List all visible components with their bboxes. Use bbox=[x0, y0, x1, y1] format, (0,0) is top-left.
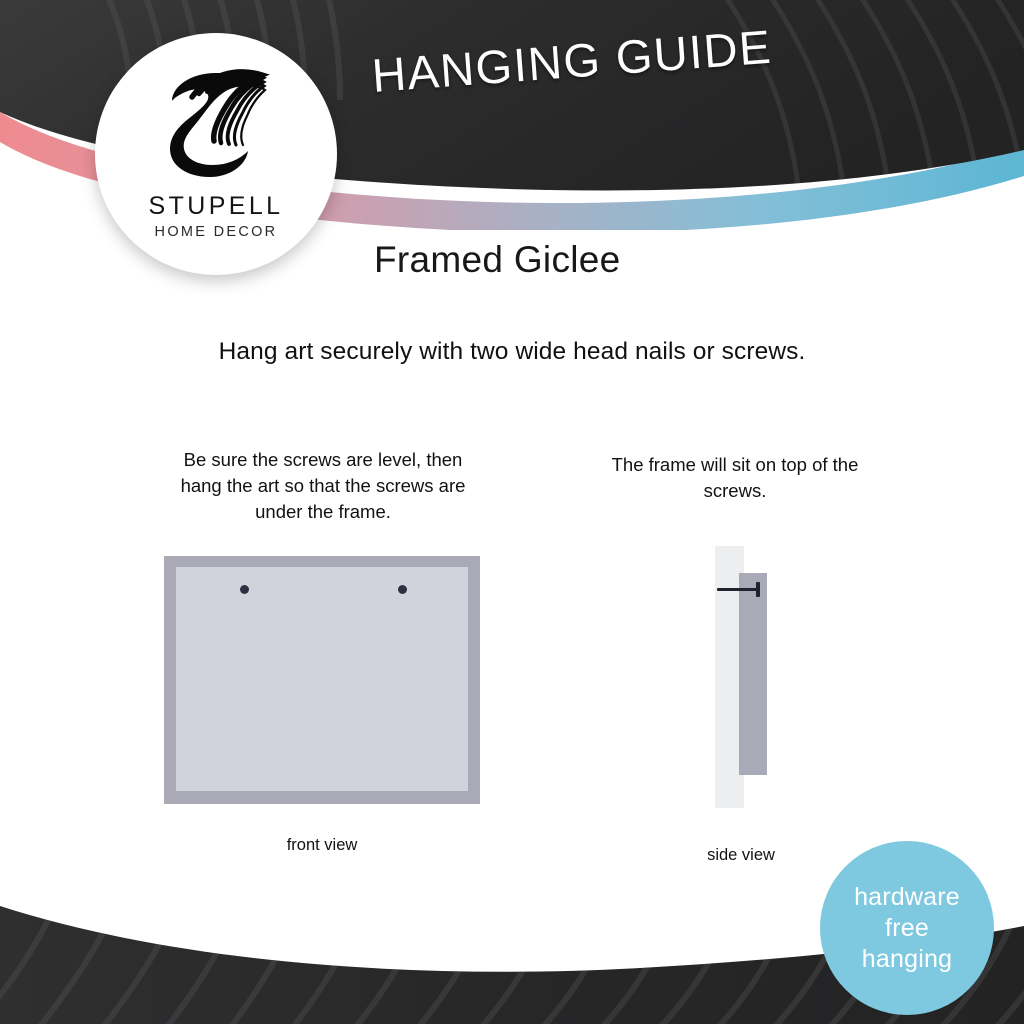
hardware-free-hanging-badge: hardware free hanging bbox=[820, 841, 994, 1015]
brand-logo-badge: STUPELL HOME DECOR bbox=[95, 33, 337, 275]
front-view-caption: front view bbox=[164, 836, 480, 855]
front-view-note: Be sure the screws are level, then hang … bbox=[168, 447, 478, 525]
side-view-note: The frame will sit on top of the screws. bbox=[595, 452, 875, 504]
badge-line-3: hanging bbox=[862, 944, 952, 975]
badge-line-1: hardware bbox=[854, 882, 960, 913]
side-view-caption: side view bbox=[655, 846, 827, 865]
badge-line-2: free bbox=[885, 913, 929, 944]
screw-dot-right bbox=[398, 585, 407, 594]
product-name: Framed Giclee bbox=[374, 239, 621, 281]
instruction-headline: Hang art securely with two wide head nai… bbox=[0, 338, 1024, 366]
brand-tagline: HOME DECOR bbox=[155, 224, 278, 240]
brand-name: STUPELL bbox=[149, 192, 284, 221]
nail-head-icon bbox=[756, 582, 760, 597]
nail-shaft-icon bbox=[717, 588, 758, 591]
front-view-frame-diagram bbox=[164, 556, 480, 804]
hanging-guide-page: HANGING GUIDE STUPELL HOME DECOR Framed … bbox=[0, 0, 1024, 1024]
side-view-diagram bbox=[705, 546, 777, 808]
side-view-frame bbox=[739, 573, 767, 775]
stupell-swirl-s-logo-icon bbox=[162, 61, 270, 186]
front-view-mat bbox=[176, 567, 468, 791]
screw-dot-left bbox=[240, 585, 249, 594]
